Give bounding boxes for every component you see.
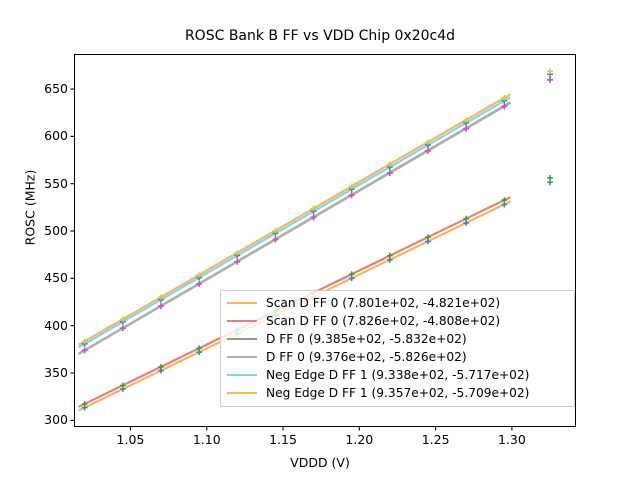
legend-label: D FF 0 (9.385e+02, -5.832e+02) [266, 330, 467, 348]
legend-item: Neg Edge D FF 1 (9.357e+02, -5.709e+02) [227, 384, 568, 402]
legend-line-swatch [227, 356, 257, 358]
x-tick-label: 1.30 [482, 432, 542, 447]
x-axis-label: VDDD (V) [0, 455, 640, 470]
y-tick-label: 450 [12, 270, 68, 285]
legend-line-swatch [227, 338, 257, 340]
legend-item: Scan D FF 0 (7.801e+02, -4.821e+02) [227, 294, 568, 312]
y-tick-label: 600 [12, 128, 68, 143]
x-tick-label: 1.20 [329, 432, 389, 447]
legend-item: Scan D FF 0 (7.826e+02, -4.808e+02) [227, 312, 568, 330]
legend-label: Neg Edge D FF 1 (9.338e+02, -5.717e+02) [266, 366, 529, 384]
legend-line-swatch [227, 374, 257, 376]
legend-line-swatch [227, 392, 257, 394]
legend-item: D FF 0 (9.385e+02, -5.832e+02) [227, 330, 568, 348]
legend-item: D FF 0 (9.376e+02, -5.826e+02) [227, 348, 568, 366]
legend-label: Scan D FF 0 (7.801e+02, -4.821e+02) [266, 294, 500, 312]
legend-item: Neg Edge D FF 1 (9.338e+02, -5.717e+02) [227, 366, 568, 384]
y-tick-label: 300 [12, 412, 68, 427]
y-tick-label: 650 [12, 81, 68, 96]
legend-label: Neg Edge D FF 1 (9.357e+02, -5.709e+02) [266, 384, 529, 402]
x-tick-label: 1.25 [406, 432, 466, 447]
legend-line-swatch [227, 320, 257, 322]
x-tick-label: 1.05 [100, 432, 160, 447]
legend-label: D FF 0 (9.376e+02, -5.826e+02) [266, 348, 467, 366]
y-tick-label: 400 [12, 318, 68, 333]
legend-label: Scan D FF 0 (7.826e+02, -4.808e+02) [266, 312, 500, 330]
x-tick-label: 1.15 [253, 432, 313, 447]
chart-title: ROSC Bank B FF vs VDD Chip 0x20c4d [0, 28, 640, 44]
y-tick-label: 500 [12, 223, 68, 238]
y-tick-label: 350 [12, 365, 68, 380]
y-axis-label: ROSC (MHz) [23, 138, 38, 278]
chart-legend: Scan D FF 0 (7.801e+02, -4.821e+02)Scan … [220, 290, 575, 407]
x-tick-label: 1.10 [177, 432, 237, 447]
matplotlib-figure: ROSC Bank B FF vs VDD Chip 0x20c4d ROSC … [0, 0, 640, 480]
legend-line-swatch [227, 302, 257, 304]
y-tick-label: 550 [12, 176, 68, 191]
